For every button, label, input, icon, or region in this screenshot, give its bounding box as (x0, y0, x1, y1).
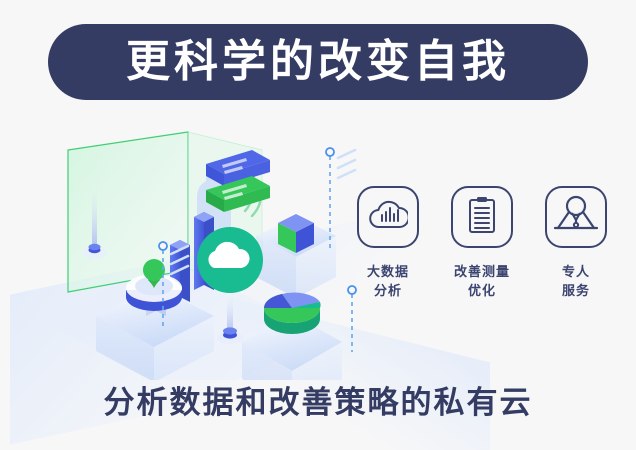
feature-item-service[interactable]: 专人 服务 (536, 186, 616, 300)
feature-frame-measurement (451, 186, 513, 248)
feature-frame-service (545, 186, 607, 248)
clipboard-lines-icon (466, 196, 498, 239)
feature-item-measurement[interactable]: 改善测量 优化 (442, 186, 522, 300)
page-tagline: 分析数据和改善策略的私有云 (0, 384, 636, 421)
cloud-badge-teal (197, 227, 263, 293)
cloud-bar-chart-icon (368, 199, 408, 236)
service-person-icon (553, 195, 599, 240)
feature-label-big-data: 大数据 分析 (367, 262, 409, 300)
feature-label-measurement: 改善测量 优化 (454, 262, 510, 300)
banner-title-text: 更科学的改变自我 (126, 40, 510, 84)
feature-frame-big-data (357, 186, 419, 248)
hero-illustration (30, 120, 370, 380)
feature-item-big-data[interactable]: 大数据 分析 (348, 186, 428, 300)
cube-pedestal-upper (256, 214, 336, 298)
poster-canvas: 更科学的改变自我 (0, 0, 636, 450)
pie-chart-3d (264, 293, 321, 334)
feature-label-service: 专人 服务 (562, 262, 590, 300)
feature-list: 大数据 分析 (348, 186, 616, 300)
title-banner: 更科学的改变自我 (48, 24, 588, 100)
